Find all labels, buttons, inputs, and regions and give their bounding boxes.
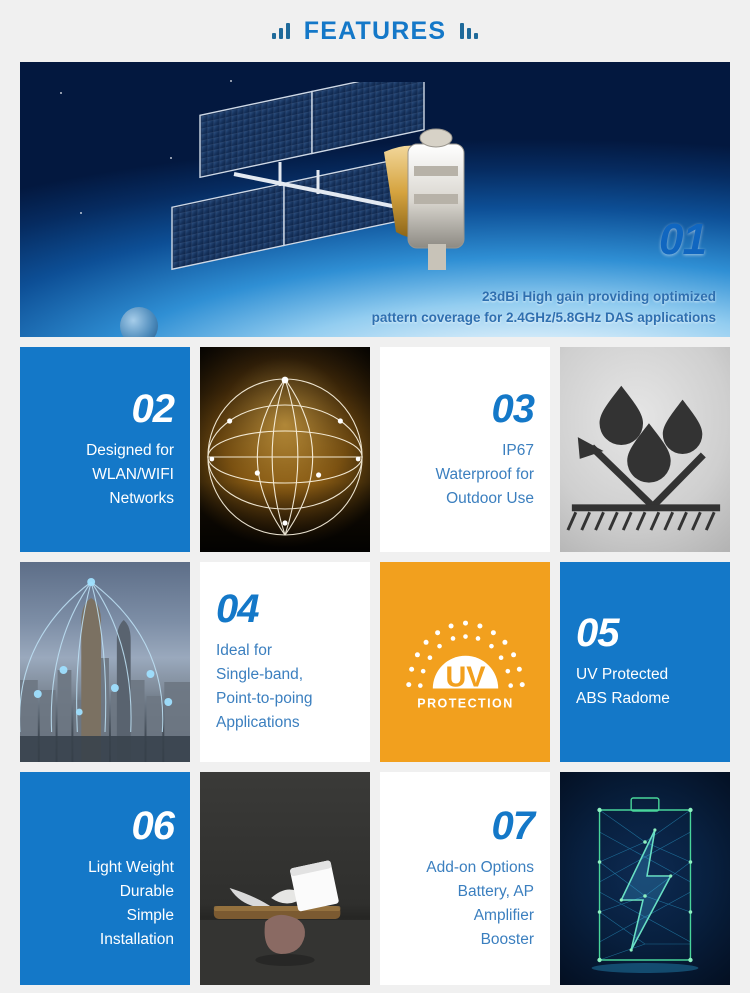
feature-line: Light Weight: [36, 855, 174, 879]
feature-card-07[interactable]: 07 Add-on Options Battery, AP Amplifier …: [380, 772, 550, 985]
city-skyline-wireless-network-photo: [20, 562, 190, 762]
feature-number-02: 02: [36, 388, 174, 428]
uv-sun-protection-icon: UV PROTECTION: [393, 600, 538, 725]
feature-caption-01: 23dBi High gain providing optimized patt…: [372, 286, 716, 329]
moon-icon: [120, 307, 158, 337]
feature-line: Applications: [216, 711, 354, 735]
feature-line: Booster: [396, 928, 534, 952]
feature-card-06[interactable]: 06 Light Weight Durable Simple Installat…: [20, 772, 190, 985]
feature-number-01: 01: [659, 215, 706, 265]
feature-line: ABS Radome: [576, 687, 714, 711]
battery-image-card[interactable]: [560, 772, 730, 985]
feature-row-1: 01 23dBi High gain providing optimized p…: [20, 62, 730, 337]
feature-line: Networks: [36, 487, 174, 511]
feature-number-03: 03: [396, 388, 534, 428]
uv-protection-card[interactable]: UV PROTECTION: [380, 562, 550, 762]
svg-text:PROTECTION: PROTECTION: [417, 696, 513, 710]
feature-line: Designed for: [36, 438, 174, 462]
feature-line: IP67: [396, 438, 534, 462]
wireframe-battery-lightning-photo: [560, 772, 730, 985]
feature-card-02[interactable]: 02 Designed for WLAN/WIFI Networks: [20, 347, 190, 552]
feature-line: Outdoor Use: [396, 487, 534, 511]
feature-text-06: 06 Light Weight Durable Simple Installat…: [20, 789, 190, 967]
feature-line: Simple: [36, 904, 174, 928]
feature-card-04[interactable]: 04 Ideal for Single-band, Point-to-poing…: [200, 562, 370, 762]
page-title: FEATURES: [304, 17, 446, 46]
waterproof-icon-card[interactable]: [560, 347, 730, 552]
balance-image-card[interactable]: [200, 772, 370, 985]
bar-chart-descending-icon: [460, 23, 478, 39]
day-city-image-card[interactable]: [20, 562, 190, 762]
page-header: FEATURES: [0, 0, 750, 62]
night-city-image-card[interactable]: [200, 347, 370, 552]
feature-line: Durable: [36, 879, 174, 903]
feature-text-07: 07 Add-on Options Battery, AP Amplifier …: [380, 789, 550, 967]
water-repellent-droplets-icon: [560, 347, 730, 552]
features-grid: 01 23dBi High gain providing optimized p…: [0, 62, 750, 985]
night-city-network-globe-photo: [200, 347, 370, 552]
feature-row-4: 06 Light Weight Durable Simple Installat…: [20, 772, 730, 985]
feature-line: 23dBi High gain providing optimized: [372, 286, 716, 308]
feature-line: WLAN/WIFI: [36, 462, 174, 486]
feature-line: Add-on Options: [396, 855, 534, 879]
feature-number-04: 04: [216, 589, 354, 629]
globe-grid-overlay: [200, 347, 370, 552]
feature-number-06: 06: [36, 805, 174, 845]
feature-line: Amplifier: [396, 904, 534, 928]
feature-line: UV Protected: [576, 663, 714, 687]
feature-text-04: 04 Ideal for Single-band, Point-to-poing…: [200, 573, 370, 751]
feature-number-05: 05: [576, 613, 714, 653]
feature-row-3: 04 Ideal for Single-band, Point-to-poing…: [20, 562, 730, 762]
feature-line: Waterproof for: [396, 462, 534, 486]
features-page: FEATURES: [0, 0, 750, 993]
feature-line: pattern coverage for 2.4GHz/5.8GHz DAS a…: [372, 307, 716, 329]
feather-and-antenna-balance-photo: [200, 772, 370, 985]
feature-text-02: 02 Designed for WLAN/WIFI Networks: [20, 372, 190, 526]
bar-chart-ascending-icon: [272, 23, 290, 39]
feature-text-05: 05 UV Protected ABS Radome: [560, 597, 730, 727]
feature-row-2: 02 Designed for WLAN/WIFI Networks: [20, 347, 730, 552]
feature-text-03: 03 IP67 Waterproof for Outdoor Use: [380, 372, 550, 526]
satellite-illustration: [112, 82, 472, 302]
feature-line: Point-to-poing: [216, 687, 354, 711]
feature-number-07: 07: [396, 805, 534, 845]
feature-card-03[interactable]: 03 IP67 Waterproof for Outdoor Use: [380, 347, 550, 552]
feature-card-01[interactable]: 01 23dBi High gain providing optimized p…: [20, 62, 730, 337]
feature-line: Ideal for: [216, 639, 354, 663]
feature-line: Installation: [36, 928, 174, 952]
feature-line: Single-band,: [216, 663, 354, 687]
feature-line: Battery, AP: [396, 879, 534, 903]
svg-text:UV: UV: [445, 661, 486, 693]
feature-card-05[interactable]: 05 UV Protected ABS Radome: [560, 562, 730, 762]
